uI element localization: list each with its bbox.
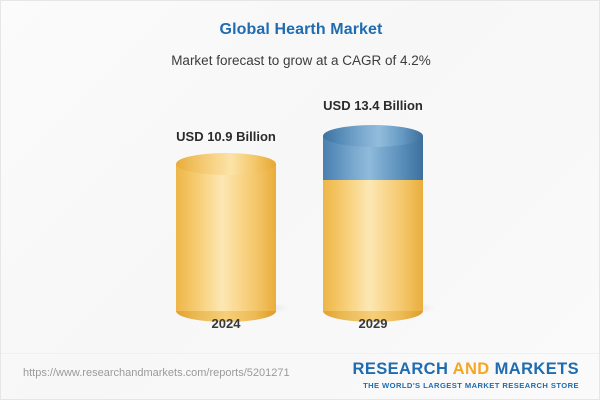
bar-chart-plot: USD 10.9 Billion 2024 USD 13.4 Billion: [1, 1, 600, 353]
cylinder-bar-2029[interactable]: [323, 125, 423, 311]
cylinder-body: [176, 164, 276, 311]
cylinder-top-cap: [176, 153, 276, 175]
research-and-markets-logo[interactable]: RESEARCH AND MARKETS THE WORLD'S LARGEST…: [353, 360, 580, 390]
logo-word-research: RESEARCH: [353, 360, 449, 378]
axis-label-2029: 2029: [323, 316, 423, 331]
cylinder-bar-2024[interactable]: [176, 153, 276, 311]
bar-segment-base-2029: [323, 169, 423, 311]
logo-wordmark: RESEARCH AND MARKETS: [353, 360, 580, 379]
bar-segment-base-2024: [176, 153, 276, 311]
bar-segment-growth-2029: [323, 125, 423, 180]
cylinder-body: [323, 169, 423, 311]
footer: https://www.researchandmarkets.com/repor…: [1, 354, 599, 399]
bar-value-label-2029: USD 13.4 Billion: [323, 98, 423, 113]
chart-canvas: Global Hearth Market Market forecast to …: [0, 0, 600, 400]
logo-word-markets: MARKETS: [495, 360, 579, 378]
axis-label-2024: 2024: [176, 316, 276, 331]
logo-word-and: AND: [453, 360, 490, 378]
logo-tagline: THE WORLD'S LARGEST MARKET RESEARCH STOR…: [353, 381, 580, 390]
report-url[interactable]: https://www.researchandmarkets.com/repor…: [23, 367, 290, 379]
bar-value-label-2024: USD 10.9 Billion: [176, 129, 276, 144]
cylinder-top-cap: [323, 125, 423, 147]
